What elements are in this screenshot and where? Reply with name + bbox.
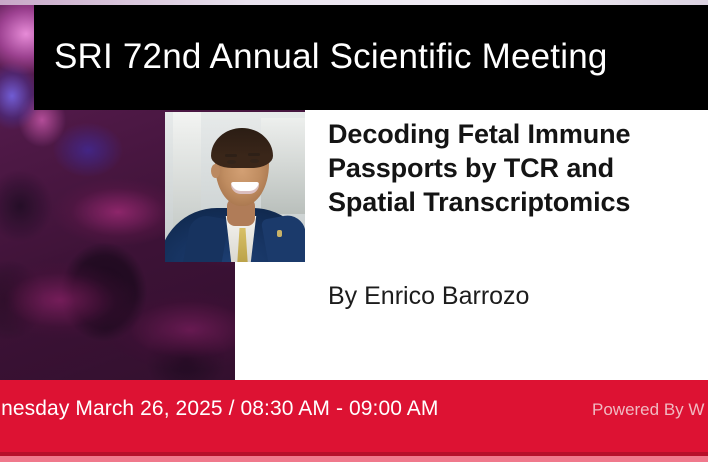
footer-base-strip: [0, 456, 708, 462]
session-title-line-1: Decoding Fetal Immune: [328, 117, 708, 151]
headshot-ear: [211, 164, 220, 178]
session-card: SRI 72nd Annual Scientific Meeting Decod…: [0, 0, 708, 462]
powered-by-label: Powered By W: [592, 400, 708, 420]
event-banner: SRI 72nd Annual Scientific Meeting: [34, 5, 708, 110]
session-title-line-3: Spatial Transcriptomics: [328, 185, 708, 219]
session-info-panel-lower: [235, 262, 708, 380]
headshot-eyebrow-left: [225, 154, 237, 157]
headshot-suit-lapel-right: [261, 213, 305, 262]
session-byline: By Enrico Barrozo: [328, 281, 529, 311]
headshot-smile: [231, 182, 259, 194]
headshot-eye-right: [250, 159, 259, 163]
event-title: SRI 72nd Annual Scientific Meeting: [34, 39, 608, 76]
headshot-eyebrow-right: [248, 153, 260, 156]
session-datetime: Wednesday March 26, 2025 / 08:30 AM - 09…: [0, 397, 439, 421]
session-title-line-2: Passports by TCR and: [328, 151, 708, 185]
headshot-eye-left: [227, 160, 236, 164]
speaker-headshot: [165, 112, 305, 262]
session-title: Decoding Fetal Immune Passports by TCR a…: [328, 117, 708, 219]
headshot-lapel-pin: [277, 230, 282, 237]
